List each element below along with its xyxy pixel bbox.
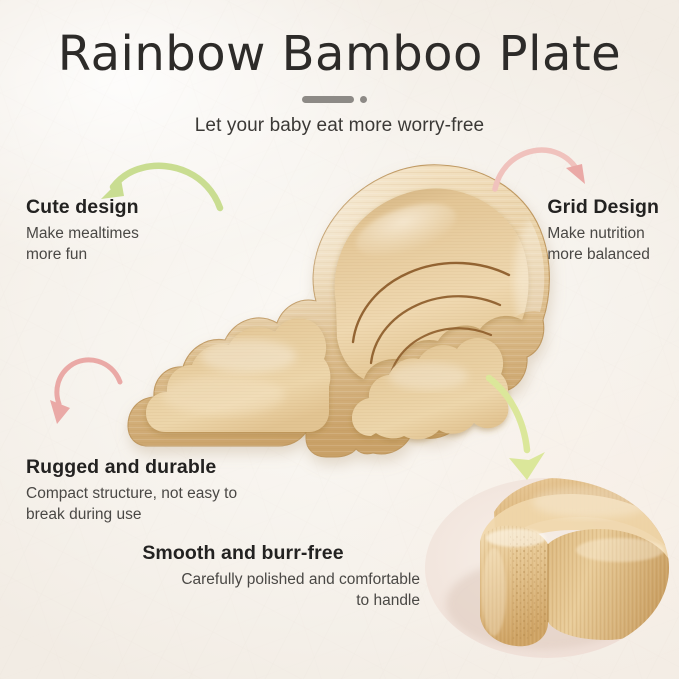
callout-grid-design: Grid Design Make nutrition more balanced (547, 196, 659, 266)
infographic-canvas: Rainbow Bamboo Plate Let your baby eat m… (0, 0, 679, 679)
curved-arrow-down-left-icon (96, 158, 226, 222)
callout-grid-design-desc: Make nutrition more balanced (547, 224, 659, 266)
callout-rugged-and-durable: Rugged and durable Compact structure, no… (26, 456, 237, 526)
callout-smooth-and-burr-free: Smooth and burr-free Carefully polished … (70, 542, 420, 612)
curved-arrow-down-icon (480, 368, 552, 488)
curved-arrow-down-left-icon (48, 352, 130, 436)
callout-smooth-and-burr-free-desc-line2: to handle (356, 592, 420, 609)
detail-closeup-inset (424, 472, 670, 664)
closeup-illustration (424, 472, 670, 664)
callout-rugged-and-durable-desc: Compact structure, not easy to break dur… (26, 484, 237, 526)
curved-arrow-down-right-icon (489, 142, 589, 204)
divider-dot-icon (360, 96, 367, 103)
header: Rainbow Bamboo Plate Let your baby eat m… (0, 0, 679, 137)
callout-cute-design-desc-line1: Make mealtimes (26, 225, 139, 242)
callout-rugged-and-durable-desc-line2: break during use (26, 506, 141, 523)
page-title: Rainbow Bamboo Plate (0, 0, 679, 82)
callout-smooth-and-burr-free-title: Smooth and burr-free (70, 542, 420, 565)
callout-smooth-and-burr-free-desc-line1: Carefully polished and comfortable (181, 571, 420, 588)
title-divider (302, 94, 378, 105)
callout-grid-design-desc-line1: Make nutrition (547, 225, 644, 242)
callout-rugged-and-durable-desc-line1: Compact structure, not easy to (26, 485, 237, 502)
callout-rugged-and-durable-title: Rugged and durable (26, 456, 237, 479)
callout-grid-design-desc-line2: more balanced (547, 246, 650, 263)
callout-smooth-and-burr-free-desc: Carefully polished and comfortable to ha… (70, 570, 420, 612)
callout-cute-design-desc-line2: more fun (26, 246, 87, 263)
page-subtitle: Let your baby eat more worry-free (0, 115, 679, 137)
plate-compartment-cloud-left (146, 318, 330, 432)
callout-cute-design-desc: Make mealtimes more fun (26, 224, 139, 266)
divider-bar-icon (302, 96, 354, 103)
